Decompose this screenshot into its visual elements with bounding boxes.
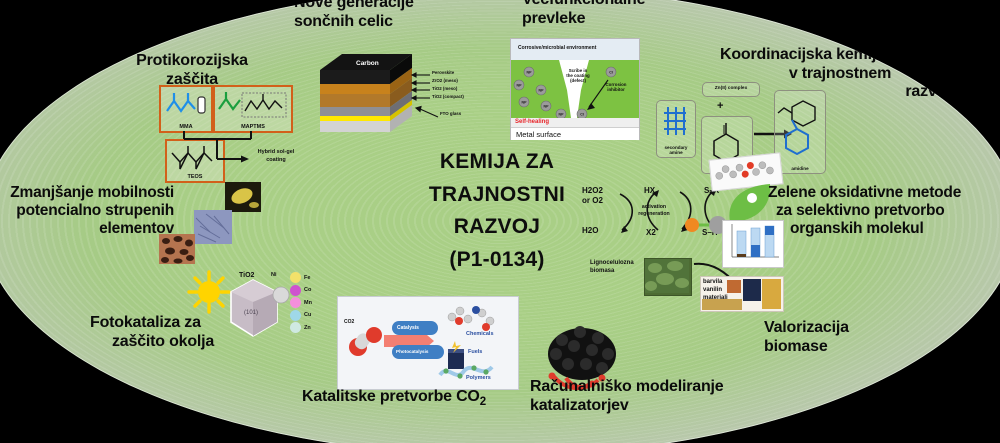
polymers-label: Polymers	[466, 375, 491, 381]
amidine-label: amidine	[775, 166, 825, 171]
legend-item-mn: Mn	[290, 297, 312, 308]
title-line-3: RAZVOJ	[382, 211, 612, 244]
panel-solar-cell: Carbon Perovskite ZrO2 (meso) TiO2 (meso…	[312, 44, 482, 136]
page-title: KEMIJA ZA TRAJNOSTNI RAZVOJ (P1-0134)	[382, 146, 612, 276]
coating-environment-label: Corrosive/microbial environment	[518, 45, 596, 51]
legend-item-zn: Zn	[290, 322, 312, 333]
label-soncne-celice: Nove generacije sončnih celic	[294, 0, 474, 31]
label-oksidativne: Zelene oksidativne metode za selektivno …	[768, 184, 996, 238]
swatch-micrograph-porous	[159, 234, 195, 264]
ni-label: Ni	[271, 272, 277, 278]
label-mobilnost: Zmanjšanje mobilnosti potencialno strupe…	[0, 184, 174, 238]
svg-text:NP: NP	[539, 88, 545, 92]
hybrid-coating-label: Hybrid sol-gel coating	[252, 149, 300, 163]
title-line-4: (P1-0134)	[382, 244, 612, 277]
secondary-amine-box: secondaryamine	[656, 100, 696, 158]
legend-dot-zn	[290, 322, 301, 333]
label-koordinacijska: Koordinacijska kemija v trajnostnem razv…	[720, 46, 960, 102]
label-fotokataliza: Fotokataliza za zaščito okolja	[90, 314, 280, 351]
label-co2-pretvorbe: Katalitske pretvorbe CO2	[302, 388, 532, 410]
coating-defect-label: Scribe in the coating (defect)	[561, 69, 595, 84]
coating-metal-band: Metal surface	[511, 127, 639, 140]
cycle-label: activation regeneration	[630, 204, 678, 217]
catalysis-pill: Catalysis	[392, 321, 438, 335]
biomass-photo	[644, 258, 692, 296]
products-thumbnail: barvila vanilin materiali	[700, 276, 784, 312]
co2-molecule-icon	[346, 325, 386, 359]
product-photo-vial	[743, 279, 761, 301]
panel-co2-conversion: CO2 Catalysis Photocatalysis Chemicals	[337, 296, 519, 390]
solar-layer-labels: Perovskite ZrO2 (meso) TiO2 (meso) TiO2 …	[432, 71, 464, 100]
svg-text:NP: NP	[527, 70, 533, 74]
swatch-micrograph-blue	[194, 210, 232, 244]
title-line-1: KEMIJA ZA	[382, 146, 612, 179]
title-line-2: TRAJNOSTNI	[382, 179, 612, 212]
svg-text:NP: NP	[559, 112, 565, 116]
legend-dot-mn	[290, 297, 301, 308]
legend-dot-fe	[290, 272, 301, 283]
fuels-label: Fuels	[468, 349, 482, 355]
label-prevleke: Večfunkcionalne prevleke	[522, 0, 712, 28]
solar-carbon-label: Carbon	[356, 60, 379, 67]
ellipse-background: KEMIJA ZA TRAJNOSTNI RAZVOJ (P1-0134) MM…	[0, 0, 1000, 443]
svg-text:NP: NP	[522, 100, 528, 104]
svg-text:NP: NP	[517, 83, 523, 87]
hx-label: HX	[644, 186, 655, 195]
panel-green-oxidation: H2O2 or O2 H2O HX X2 activation regenera…	[582, 184, 782, 329]
ni-particle	[272, 286, 290, 304]
product-swatch-brown	[727, 280, 741, 293]
amidine-box: amidine	[774, 90, 826, 174]
plus-sign: +	[717, 100, 723, 112]
coating-inhibitor-label: Corrosion inhibitor	[599, 83, 633, 93]
polymer-chain	[438, 359, 502, 385]
anticorrosion-arrows	[157, 81, 292, 181]
metal-legend: Fe Co Mn Cu Zn	[290, 272, 312, 333]
svg-text:CI: CI	[580, 112, 584, 116]
co2-label: CO2	[344, 319, 354, 325]
svg-text:NP: NP	[544, 104, 550, 108]
swatch-micrograph-yellow	[225, 182, 261, 212]
coating-environment-band: Corrosive/microbial environment	[511, 39, 639, 60]
secondary-amine-label: secondaryamine	[657, 145, 695, 155]
svg-text:CI: CI	[609, 70, 613, 74]
coating-selfhealing-band: Self-healing	[511, 118, 639, 127]
product-photo-material	[762, 279, 781, 309]
self-healing-label: Self-healing	[515, 119, 549, 125]
legend-item-co: Co	[290, 285, 312, 296]
legend-item-cu: Cu	[290, 310, 312, 321]
metal-surface-label: Metal surface	[516, 130, 561, 139]
legend-dot-cu	[290, 310, 301, 321]
chemicals-label: Chemicals	[466, 331, 494, 337]
legend-dot-co	[290, 285, 301, 296]
label-valorizacija: Valorizacija biomase	[764, 319, 914, 356]
solar-substrate-label: FTO glass	[440, 112, 461, 117]
label-modeliranje: Računalniško modeliranje katalizatorjev	[530, 378, 770, 415]
product-powders	[702, 299, 742, 310]
infographic-canvas: KEMIJA ZA TRAJNOSTNI RAZVOJ (P1-0134) MM…	[0, 0, 1000, 443]
panel-multifunctional-coating: Corrosive/microbial environment NPNP NPN…	[510, 38, 640, 140]
label-protikorozijska: Protikorozijska zaščita	[102, 52, 282, 89]
photocatalysis-pill: Photocatalysis	[392, 345, 444, 359]
x2-label: X2	[646, 228, 656, 237]
legend-item-fe: Fe	[290, 272, 312, 283]
panel-anticorrosion: MMA MAPTMS TEOS	[157, 81, 292, 181]
